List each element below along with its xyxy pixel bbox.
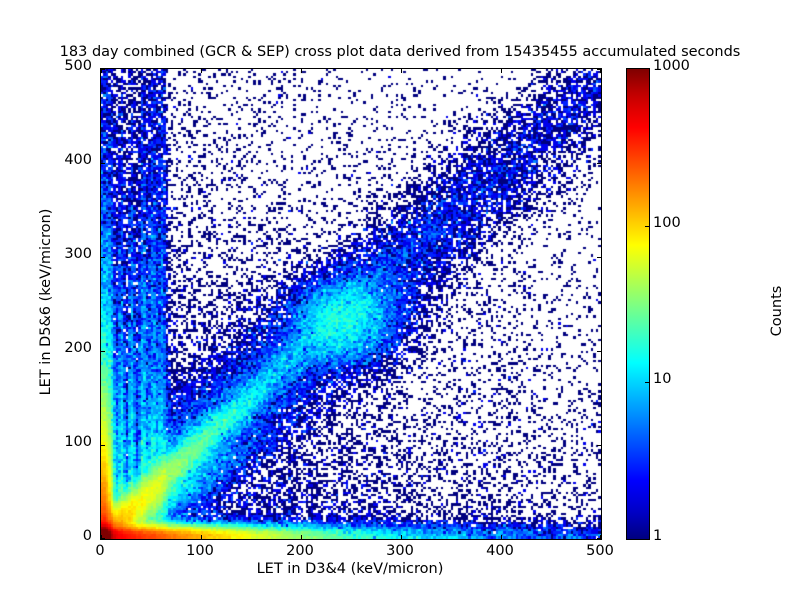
x-tick-label: 500 <box>570 543 630 559</box>
y-tick-mark <box>597 351 601 352</box>
colorbar-tick-mark <box>645 226 649 227</box>
colorbar-gradient <box>627 69 649 539</box>
x-tick-mark <box>501 535 502 539</box>
x-tick-label: 0 <box>70 543 130 559</box>
x-axis-label: LET in D3&4 (keV/micron) <box>100 561 600 577</box>
y-tick-mark <box>101 538 105 539</box>
x-tick-mark <box>201 535 202 539</box>
y-axis-label: LET in D5&6 (keV/micron) <box>38 152 54 452</box>
y-tick-mark <box>101 351 105 352</box>
x-tick-mark <box>501 69 502 73</box>
x-tick-mark <box>401 69 402 73</box>
y-tick-mark <box>597 69 601 70</box>
plot-area <box>100 68 602 540</box>
x-tick-mark <box>301 535 302 539</box>
y-tick-label: 100 <box>24 434 92 450</box>
y-tick-mark <box>597 445 601 446</box>
y-tick-label: 400 <box>24 152 92 168</box>
colorbar-tick-mark <box>645 382 649 383</box>
y-tick-mark <box>101 257 105 258</box>
x-tick-mark <box>401 535 402 539</box>
colorbar-title: Counts <box>769 161 785 461</box>
density-heatmap <box>101 69 601 539</box>
y-tick-mark <box>597 257 601 258</box>
y-tick-mark <box>101 69 105 70</box>
y-tick-label: 500 <box>24 58 92 74</box>
y-tick-label: 0 <box>24 528 92 544</box>
x-tick-label: 200 <box>270 543 330 559</box>
x-tick-mark <box>301 69 302 73</box>
y-tick-mark <box>597 538 601 539</box>
colorbar-tick-label: 1 <box>653 528 662 544</box>
y-tick-mark <box>101 163 105 164</box>
x-tick-mark <box>201 69 202 73</box>
y-tick-mark <box>597 163 601 164</box>
x-tick-label: 400 <box>470 543 530 559</box>
x-tick-label: 300 <box>370 543 430 559</box>
colorbar-tick-label: 1000 <box>653 58 690 74</box>
figure-canvas: 183 day combined (GCR & SEP) cross plot … <box>0 0 800 600</box>
colorbar-tick-label: 10 <box>653 371 671 387</box>
x-tick-label: 100 <box>170 543 230 559</box>
y-tick-label: 300 <box>24 246 92 262</box>
y-tick-mark <box>101 445 105 446</box>
colorbar-tick-label: 100 <box>653 215 681 231</box>
colorbar <box>626 68 650 540</box>
y-tick-label: 200 <box>24 340 92 356</box>
